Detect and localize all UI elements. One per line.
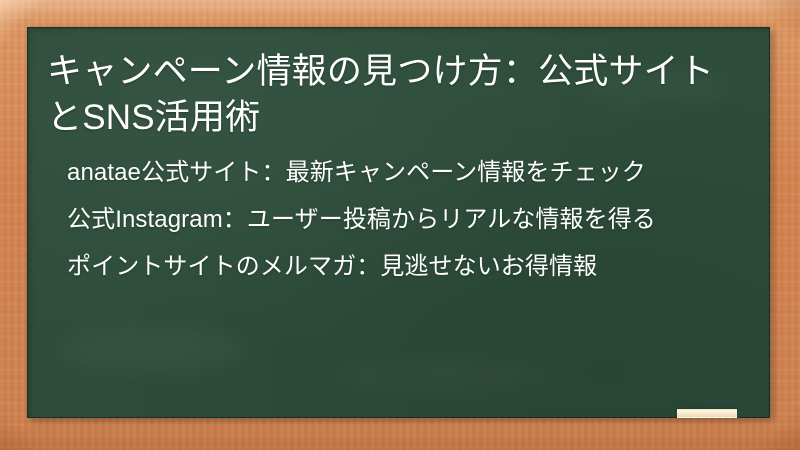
board-topic-list: anatae公式サイト：最新キャンペーン情報をチェック 公式Instagram：… <box>67 156 755 284</box>
chalk-smudge <box>57 327 247 373</box>
chalk-eraser-icon <box>677 409 737 418</box>
chalkboard-surface: キャンペーン情報の見つけ方：公式サイトとSNS活用術 anatae公式サイト：最… <box>27 27 770 418</box>
chalk-smudge <box>327 358 557 392</box>
list-item-official-site: anatae公式サイト：最新キャンペーン情報をチェック <box>67 156 755 190</box>
chalkboard-banner: キャンペーン情報の見つけ方：公式サイトとSNS活用術 anatae公式サイト：最… <box>0 0 800 450</box>
list-item-official-instagram: 公式Instagram：ユーザー投稿からリアルな情報を得る <box>67 203 755 237</box>
frame-bottom-shadow <box>0 418 800 450</box>
list-item-point-site-newsletter: ポイントサイトのメルマガ：見逃せないお得情報 <box>67 250 755 284</box>
frame-top-highlight <box>0 0 800 27</box>
board-title: キャンペーン情報の見つけ方：公式サイトとSNS活用術 <box>47 49 747 140</box>
